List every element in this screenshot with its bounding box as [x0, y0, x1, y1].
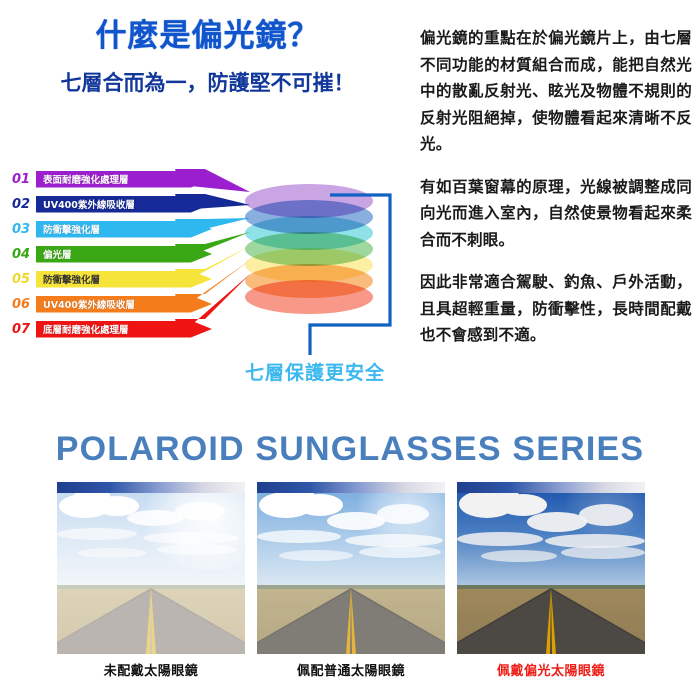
page-subtitle: 七層合而為一，防護堅不可摧！ [0, 71, 415, 96]
layer-number: 06 [12, 297, 36, 312]
photo-caption-1: 未配戴太陽眼鏡 [57, 660, 245, 684]
layer-label: UV400紫外線吸收層 [36, 197, 135, 211]
heading-block: 什麼是偏光鏡？ 七層合而為一，防護堅不可摧！ [0, 18, 415, 96]
layer-bar: 表面耐磨強化處理層 [36, 171, 212, 188]
comparison-photo-3 [457, 482, 645, 654]
layer-bar: 底層耐磨強化處理層 [36, 321, 212, 338]
top-section: 什麼是偏光鏡？ 七層合而為一，防護堅不可摧！ 偏光鏡的重點在於偏光鏡片上，由七層… [0, 0, 700, 415]
layer-number: 05 [12, 272, 36, 287]
road-scene [257, 482, 445, 654]
layer-bar: 偏光層 [36, 246, 212, 263]
road-scene [57, 482, 245, 654]
comparison-photo-1 [57, 482, 245, 654]
photo-caption-3: 佩戴偏光太陽眼鏡 [457, 660, 645, 684]
layer-label: 表面耐磨強化處理層 [36, 172, 129, 186]
layer-bar: 防衝擊強化層 [36, 271, 212, 288]
layer-bar: 防衝擊強化層 [36, 221, 212, 238]
stack-caption: 七層保護更安全 [215, 358, 415, 385]
description-paragraph-3: 因此非常適合駕駛、釣魚、戶外活動，且具超輕重量，防衝擊性，長時間配戴也不會感到不… [420, 269, 692, 349]
road-scene [457, 482, 645, 654]
description-column: 偏光鏡的重點在於偏光鏡片上，由七層不同功能的材質組合而成，能把自然光中的散亂反射… [420, 25, 692, 349]
layer-row: 01 表面耐磨強化處理層 [12, 167, 212, 191]
photo-top-band [457, 482, 645, 493]
layer-number: 04 [12, 247, 36, 262]
layer-label: 底層耐磨強化處理層 [36, 322, 129, 336]
comparison-caption-row: 未配戴太陽眼鏡 佩配普通太陽眼鏡 佩戴偏光太陽眼鏡 [57, 660, 645, 684]
layer-label: 偏光層 [36, 247, 72, 261]
layer-label: UV400紫外線吸收層 [36, 297, 135, 311]
layer-row: 05 防衝擊強化層 [12, 267, 212, 291]
photo-top-band [57, 482, 245, 493]
series-title: POLAROID SUNGLASSES SERIES [0, 430, 700, 469]
layer-number: 02 [12, 197, 36, 212]
layer-row: 02 UV400紫外線吸收層 [12, 192, 212, 216]
layer-row: 06 UV400紫外線吸收層 [12, 292, 212, 316]
layer-label: 防衝擊強化層 [36, 272, 100, 286]
description-paragraph-2: 有如百葉窗幕的原理，光線被調整成同向光而進入室內，自然使景物看起來柔合而不刺眼。 [420, 174, 692, 254]
page-title: 什麼是偏光鏡？ [0, 18, 415, 55]
layer-row: 03 防衝擊強化層 [12, 217, 212, 241]
description-paragraph-1: 偏光鏡的重點在於偏光鏡片上，由七層不同功能的材質組合而成，能把自然光中的散亂反射… [420, 25, 692, 158]
layer-row: 04 偏光層 [12, 242, 212, 266]
layer-label-list: 01 表面耐磨強化處理層 02 UV400紫外線吸收層 03 防衝擊強化層 [12, 167, 212, 342]
layer-number: 07 [12, 322, 36, 337]
infographic-page: 什麼是偏光鏡？ 七層合而為一，防護堅不可摧！ 偏光鏡的重點在於偏光鏡片上，由七層… [0, 0, 700, 700]
comparison-photo-row [57, 482, 645, 654]
layer-bar: UV400紫外線吸收層 [36, 296, 212, 313]
layer-number: 01 [12, 172, 36, 187]
comparison-photo-2 [257, 482, 445, 654]
layer-label: 防衝擊強化層 [36, 222, 100, 236]
photo-top-band [257, 482, 445, 493]
layer-row: 07 底層耐磨強化處理層 [12, 317, 212, 341]
layer-number: 03 [12, 222, 36, 237]
layer-bar: UV400紫外線吸收層 [36, 196, 212, 213]
photo-caption-2: 佩配普通太陽眼鏡 [257, 660, 445, 684]
